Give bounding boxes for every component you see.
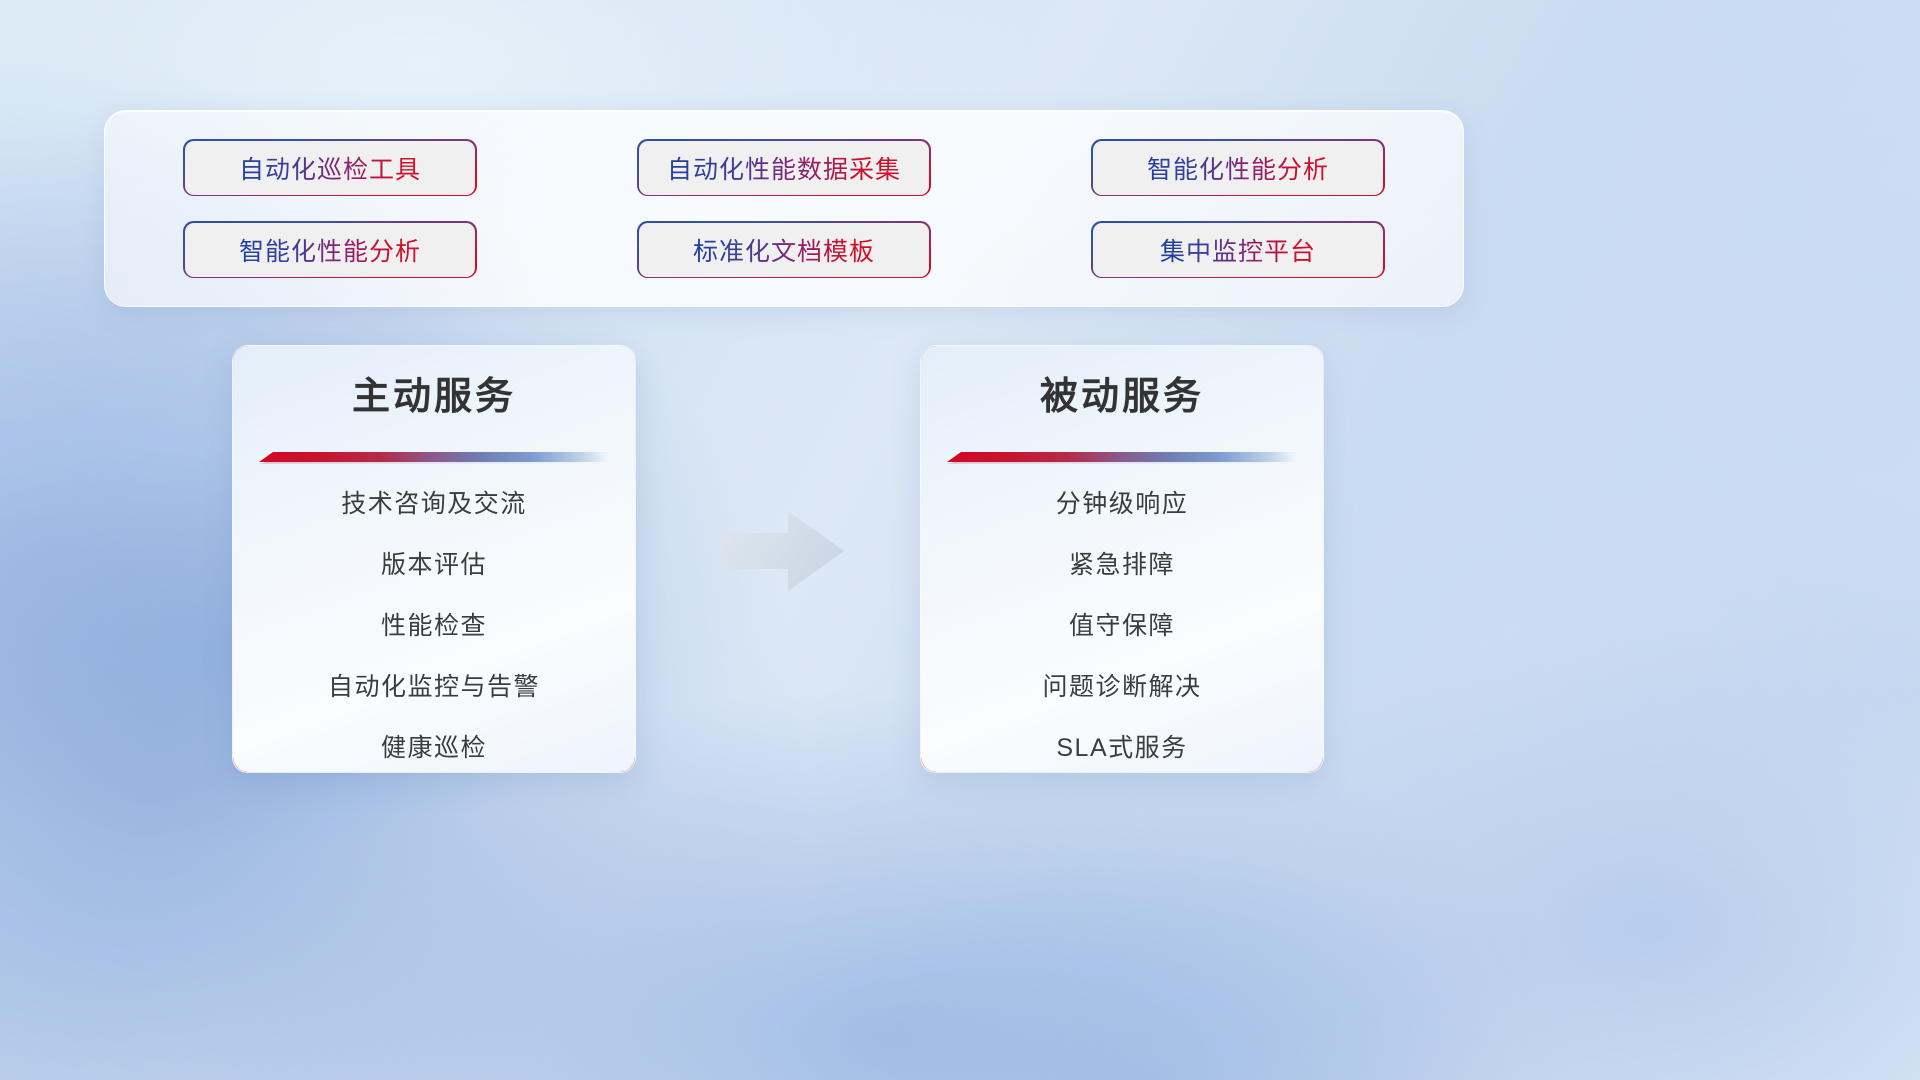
arrow-right-icon bbox=[718, 505, 846, 597]
card-title: 被动服务 bbox=[1040, 378, 1204, 416]
divider-bar bbox=[259, 452, 609, 462]
card-item: 值守保障 bbox=[1069, 614, 1175, 639]
capability-chips-panel: 自动化巡检工具 自动化性能数据采集 智能化性能分析 智能化性能分析 标准化文档模… bbox=[104, 110, 1464, 307]
card-item: SLA式服务 bbox=[1056, 736, 1187, 761]
service-card-reactive: 被动服务 分钟级响应 紧急排障 值守保障 问题诊断解决 SLA式服务 bbox=[920, 345, 1324, 773]
card-item: 自动化监控与告警 bbox=[328, 675, 540, 700]
chip-intelligent-perf-analysis[interactable]: 智能化性能分析 bbox=[1093, 141, 1383, 195]
card-divider bbox=[947, 452, 1297, 462]
chip-label: 自动化性能数据采集 bbox=[667, 150, 901, 186]
card-item: 分钟级响应 bbox=[1056, 492, 1189, 517]
chip-label: 自动化巡检工具 bbox=[239, 150, 421, 186]
chip-standard-doc-template[interactable]: 标准化文档模板 bbox=[639, 223, 929, 277]
chip-row-1: 自动化巡检工具 自动化性能数据采集 智能化性能分析 bbox=[105, 141, 1463, 195]
card-divider bbox=[259, 452, 609, 462]
card-item: 问题诊断解决 bbox=[1042, 675, 1201, 700]
chip-auto-inspection-tool[interactable]: 自动化巡检工具 bbox=[185, 141, 475, 195]
chip-intelligent-perf-analysis-2[interactable]: 智能化性能分析 bbox=[185, 223, 475, 277]
card-item-list: 分钟级响应 紧急排障 值守保障 问题诊断解决 SLA式服务 bbox=[921, 492, 1323, 761]
chip-auto-perf-data-collection[interactable]: 自动化性能数据采集 bbox=[639, 141, 929, 195]
card-title: 主动服务 bbox=[352, 378, 516, 416]
card-item: 紧急排障 bbox=[1069, 553, 1175, 578]
card-item: 健康巡检 bbox=[381, 736, 487, 761]
slide-canvas: 自动化巡检工具 自动化性能数据采集 智能化性能分析 智能化性能分析 标准化文档模… bbox=[0, 0, 1920, 1080]
card-item-list: 技术咨询及交流 版本评估 性能检查 自动化监控与告警 健康巡检 bbox=[233, 492, 635, 761]
chip-central-monitoring-platform[interactable]: 集中监控平台 bbox=[1093, 223, 1383, 277]
card-item: 性能检查 bbox=[381, 614, 487, 639]
chip-label: 智能化性能分析 bbox=[239, 232, 421, 268]
chip-label: 智能化性能分析 bbox=[1147, 150, 1329, 186]
chip-label: 标准化文档模板 bbox=[693, 232, 875, 268]
card-item: 版本评估 bbox=[381, 553, 487, 578]
divider-bar bbox=[947, 452, 1297, 462]
card-item: 技术咨询及交流 bbox=[341, 492, 527, 517]
service-card-proactive: 主动服务 技术咨询及交流 版本评估 性能检查 自动化监控与告警 健康巡检 bbox=[232, 345, 636, 773]
chip-row-2: 智能化性能分析 标准化文档模板 集中监控平台 bbox=[105, 223, 1463, 277]
chip-label: 集中监控平台 bbox=[1160, 232, 1316, 268]
